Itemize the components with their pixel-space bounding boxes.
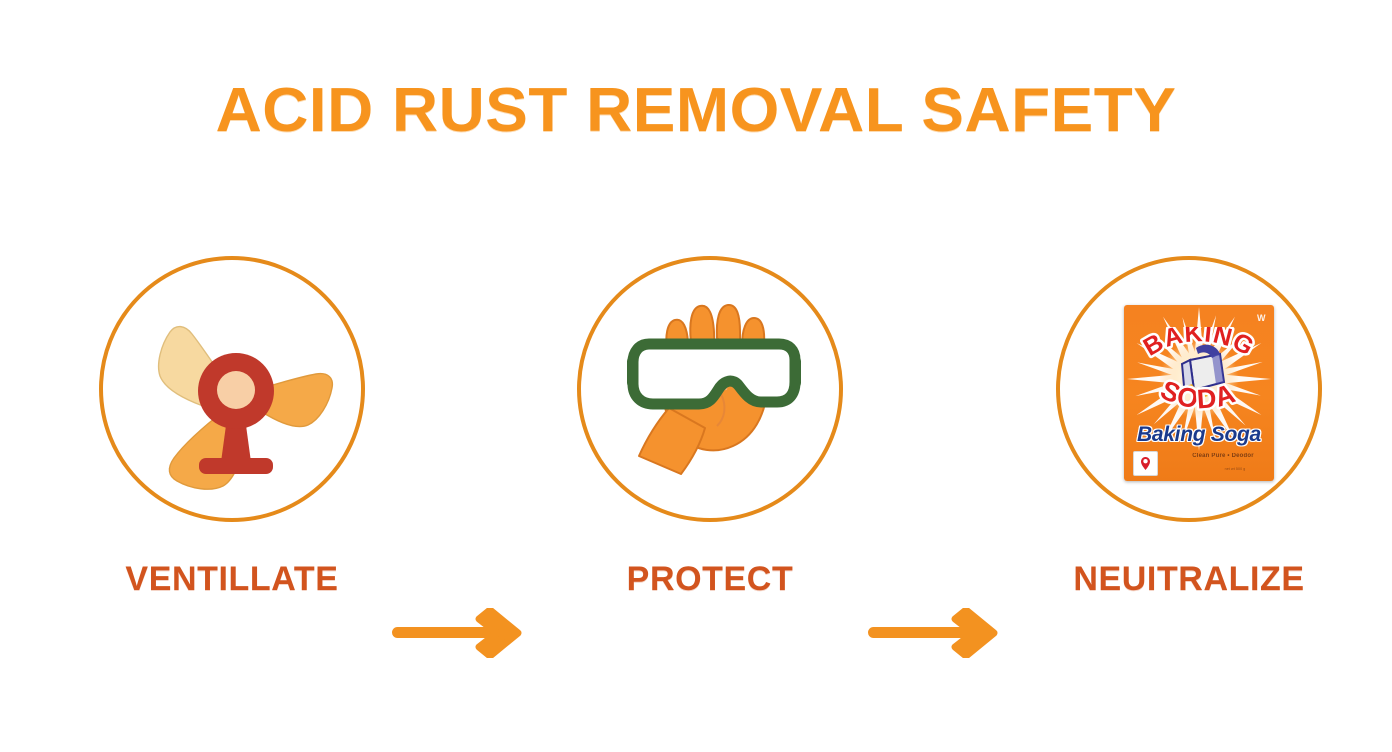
step-2-label: PROTECT [560, 560, 860, 598]
step-3-label: NEUITRALIZE [1039, 560, 1339, 598]
baking-soda-box-icon: BAKING SODA W Baking Soga [1124, 305, 1274, 481]
step-ventillate[interactable]: VENTILLATE [82, 248, 382, 598]
arrow-step2-to-step3 [866, 608, 1022, 658]
soda-fineprint: net wt 500 g [1205, 467, 1265, 471]
step-neuitralize[interactable]: BAKING SODA W Baking Soga [1039, 248, 1339, 598]
step-3-circle: BAKING SODA W Baking Soga [1056, 256, 1322, 522]
arrow-step1-to-step2 [390, 608, 546, 658]
soda-badge-logo-icon [1134, 452, 1157, 475]
step-2-circle [577, 256, 843, 522]
step-1-circle [99, 256, 365, 522]
page-title: ACID RUST REMOVAL SAFETY [0, 76, 1392, 146]
glove-and-goggles-icon [581, 260, 847, 526]
soda-badge [1133, 451, 1158, 476]
soda-product-name: Baking Soga [1124, 423, 1274, 447]
soda-tagline: Clean Pure • Deodor [1180, 453, 1266, 459]
infographic-canvas: ACID RUST REMOVAL SAFETY [0, 0, 1392, 752]
soda-corner-logo: W [1257, 313, 1265, 323]
step-1-label: VENTILLATE [82, 560, 382, 598]
steps-row: VENTILLATE [0, 248, 1392, 598]
electric-fan-icon [103, 260, 369, 526]
step-protect[interactable]: PROTECT [560, 248, 860, 598]
